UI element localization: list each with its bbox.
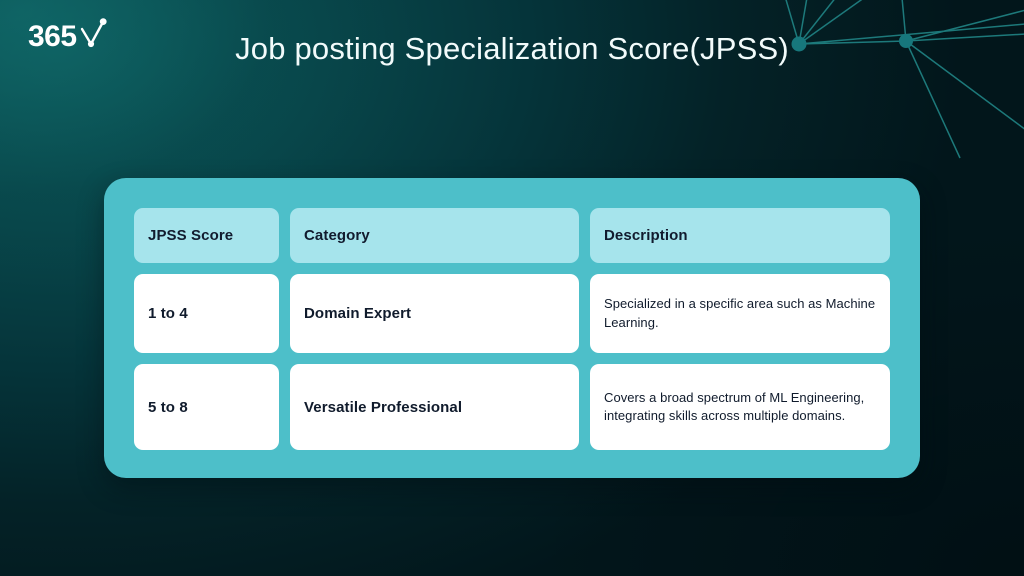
table-header-row: JPSS Score Category Description (134, 208, 890, 263)
cell-description: Covers a broad spectrum of ML Engineerin… (590, 364, 890, 450)
table-row: 1 to 4 Domain Expert Specialized in a sp… (134, 274, 890, 353)
column-header-label: Description (604, 227, 876, 244)
jpss-table-card: JPSS Score Category Description 1 to 4 D… (104, 178, 920, 478)
cell-description: Specialized in a specific area such as M… (590, 274, 890, 353)
cell-jpss-score: 1 to 4 (134, 274, 279, 353)
cell-value: Covers a broad spectrum of ML Engineerin… (604, 389, 876, 426)
column-header-jpss-score: JPSS Score (134, 208, 279, 263)
slide-canvas: 365 Job posting Specialization Score(JPS… (0, 0, 1024, 576)
page-title: Job posting Specialization Score(JPSS) (0, 31, 1024, 67)
cell-category: Versatile Professional (290, 364, 579, 450)
cell-category: Domain Expert (290, 274, 579, 353)
column-header-label: JPSS Score (148, 227, 265, 244)
table-row: 5 to 8 Versatile Professional Covers a b… (134, 364, 890, 450)
cell-value: Specialized in a specific area such as M… (604, 295, 876, 332)
network-nodes-graphic (764, 0, 1024, 160)
cell-jpss-score: 5 to 8 (134, 364, 279, 450)
column-header-category: Category (290, 208, 579, 263)
checkmark-graph-icon (78, 16, 108, 50)
brand-logo: 365 (28, 22, 108, 52)
cell-value: Domain Expert (304, 305, 565, 322)
brand-logo-text: 365 (28, 22, 77, 52)
column-header-description: Description (590, 208, 890, 263)
cell-value: 1 to 4 (148, 305, 265, 322)
cell-value: Versatile Professional (304, 399, 565, 416)
cell-value: 5 to 8 (148, 399, 265, 416)
column-header-label: Category (304, 227, 565, 244)
